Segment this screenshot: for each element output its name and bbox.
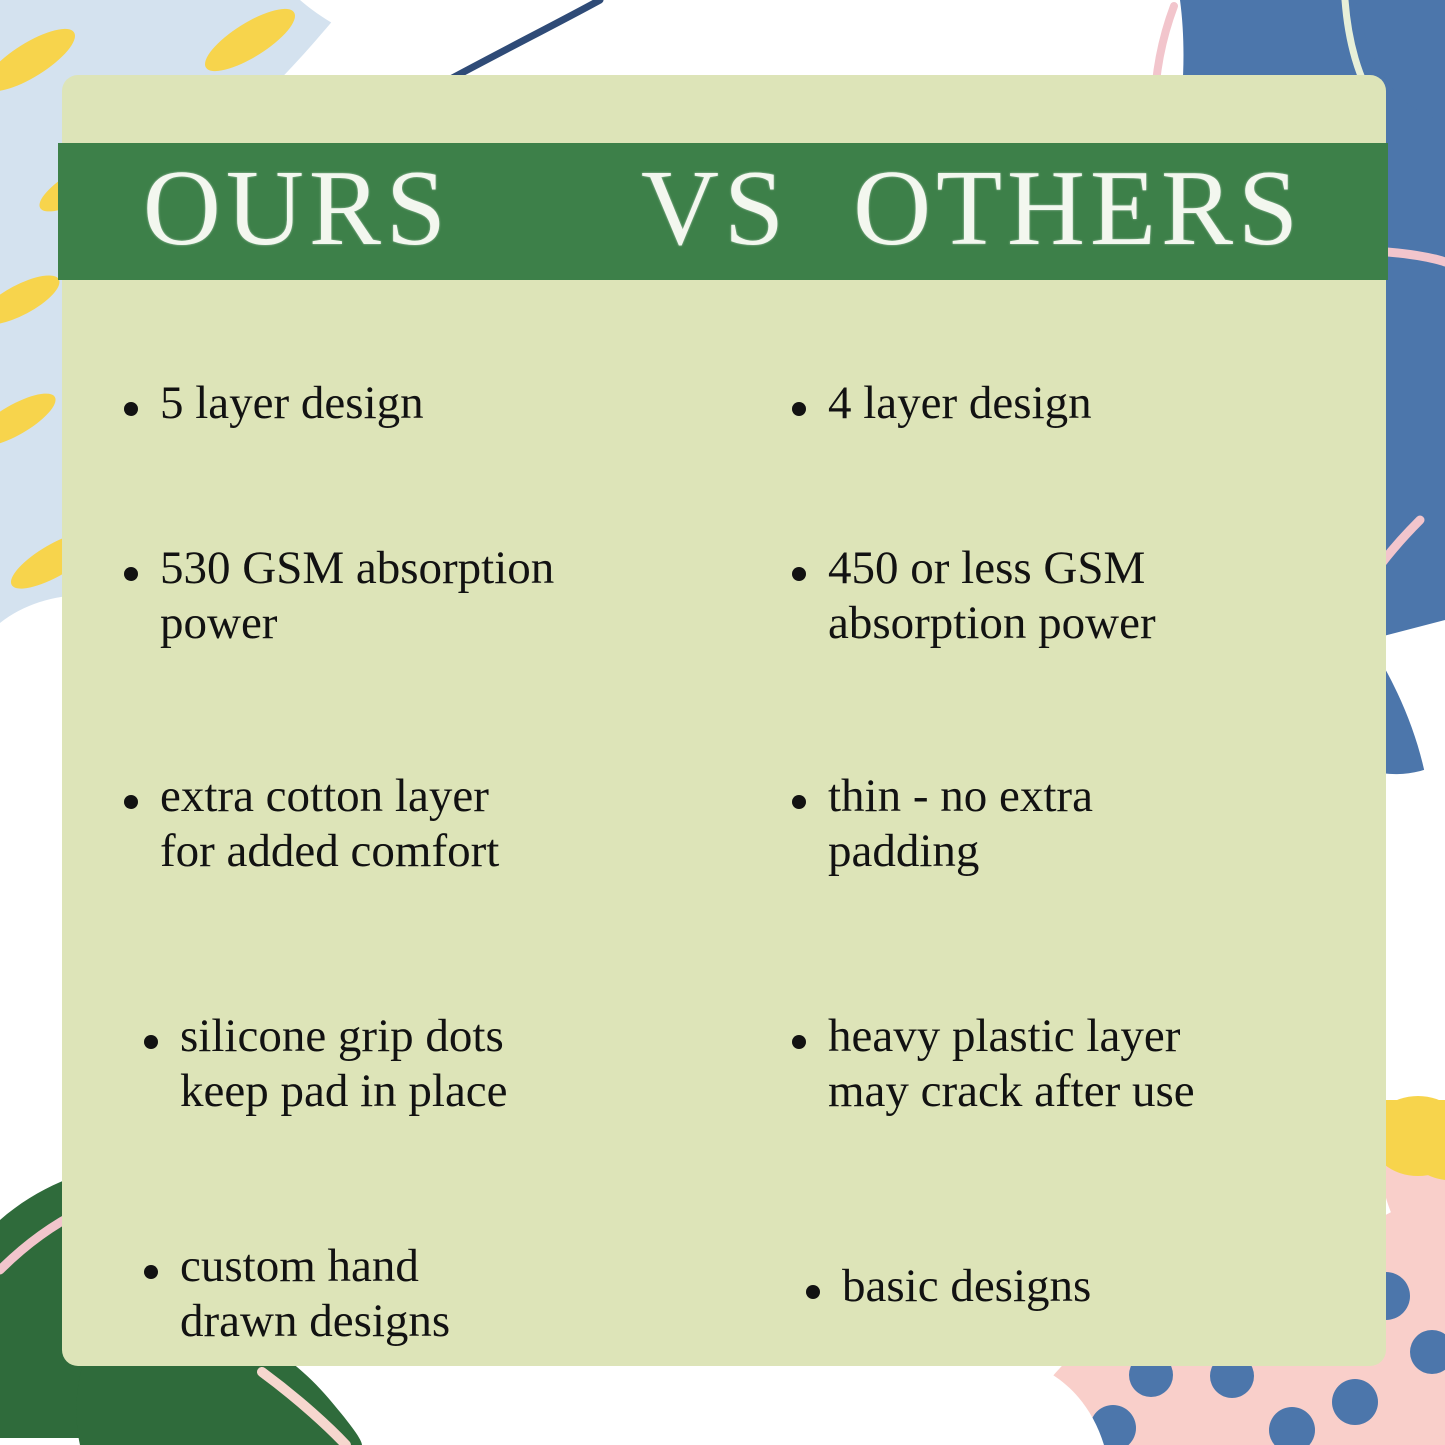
list-item-label: extra cotton layer for added comfort	[160, 769, 499, 879]
bullet-dot-icon	[792, 567, 806, 581]
list-item: custom hand drawn designs	[144, 1239, 752, 1349]
list-item: heavy plastic layer may crack after use	[792, 1009, 1376, 1119]
bullet-dot-icon	[124, 567, 138, 581]
column-ours: 5 layer design 530 GSM absorption power …	[62, 300, 762, 1366]
list-item: 530 GSM absorption power	[124, 541, 752, 651]
list-item-label: heavy plastic layer may crack after use	[828, 1009, 1195, 1119]
banner-title: OURS VS OTHERS	[143, 155, 1303, 269]
list-item-label: basic designs	[842, 1259, 1091, 1314]
bullet-dot-icon	[792, 795, 806, 809]
list-item: basic designs	[806, 1259, 1376, 1314]
comparison-columns: 5 layer design 530 GSM absorption power …	[62, 300, 1386, 1366]
list-item: 4 layer design	[792, 376, 1376, 431]
bullet-dot-icon	[144, 1265, 158, 1279]
bullet-dot-icon	[792, 402, 806, 416]
bullet-dot-icon	[144, 1035, 158, 1049]
list-item: 5 layer design	[124, 376, 752, 431]
list-item: 450 or less GSM absorption power	[792, 541, 1376, 651]
bullet-dot-icon	[124, 795, 138, 809]
bullet-dot-icon	[124, 402, 138, 416]
list-item: extra cotton layer for added comfort	[124, 769, 752, 879]
infographic-canvas: OURS VS OTHERS 5 layer design 530 GSM ab…	[0, 0, 1445, 1445]
list-item-label: custom hand drawn designs	[180, 1239, 450, 1349]
list-item-label: 530 GSM absorption power	[160, 541, 554, 651]
ours-bullet-list: 5 layer design 530 GSM absorption power …	[124, 300, 752, 1366]
list-item-label: 4 layer design	[828, 376, 1092, 431]
column-others: 4 layer design 450 or less GSM absorptio…	[762, 300, 1386, 1366]
list-item-label: 5 layer design	[160, 376, 424, 431]
polka-dot	[1332, 1379, 1378, 1425]
list-item: thin - no extra padding	[792, 769, 1376, 879]
list-item: silicone grip dots keep pad in place	[144, 1009, 752, 1119]
list-item-label: silicone grip dots keep pad in place	[180, 1009, 508, 1119]
comparison-banner: OURS VS OTHERS	[58, 143, 1388, 280]
list-item-label: 450 or less GSM absorption power	[828, 541, 1156, 651]
others-bullet-list: 4 layer design 450 or less GSM absorptio…	[792, 300, 1376, 1366]
list-item-label: thin - no extra padding	[828, 769, 1093, 879]
bullet-dot-icon	[806, 1285, 820, 1299]
bullet-dot-icon	[792, 1035, 806, 1049]
